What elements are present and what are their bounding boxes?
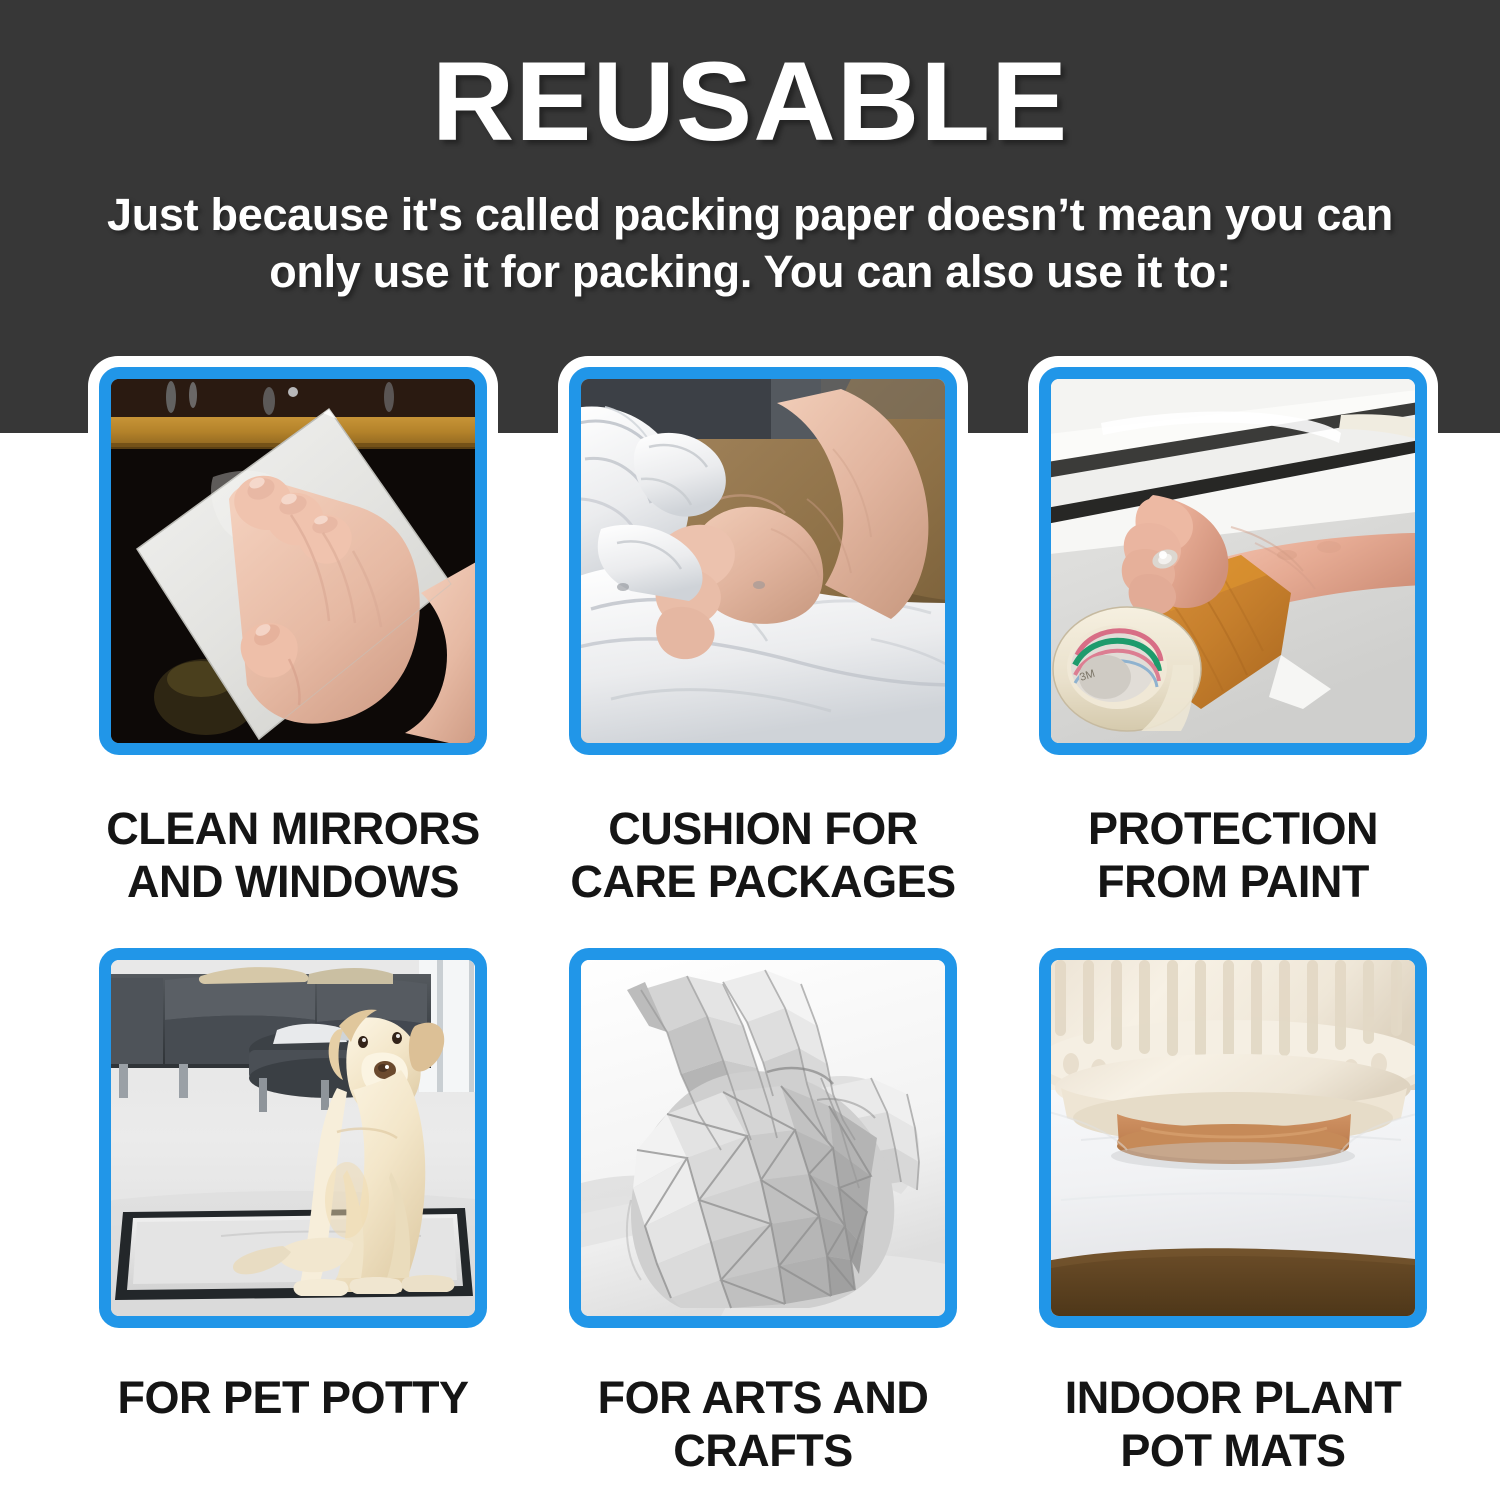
- card-for-arts-and-crafts[interactable]: [558, 937, 968, 1339]
- card-indoor-plant-pot-mats[interactable]: [1028, 937, 1438, 1339]
- use-case-cell-cushion-for-care-packages: CUSHION FOR CARE PACKAGES: [528, 356, 998, 908]
- card-protection-from-paint[interactable]: 3M: [1028, 356, 1438, 766]
- card-for-pet-potty[interactable]: [88, 937, 498, 1339]
- card-frame: 3M: [1039, 367, 1427, 755]
- card-caption: FOR PET POTTY: [58, 1371, 528, 1424]
- use-case-cell-for-pet-potty: FOR PET POTTY: [58, 937, 528, 1424]
- card-frame: [99, 948, 487, 1328]
- photo-indoor-plant-pot-mats: [1051, 960, 1415, 1316]
- card-frame: [569, 948, 957, 1328]
- card-caption: CLEAN MIRRORS AND WINDOWS: [58, 802, 528, 908]
- use-case-cell-protection-from-paint: 3M PROTECTION FROM PAINT: [998, 356, 1468, 908]
- photo-clean-mirrors-and-windows: [111, 379, 475, 743]
- photo-cushion-for-care-packages: [581, 379, 945, 743]
- use-case-cell-clean-mirrors-and-windows: CLEAN MIRRORS AND WINDOWS: [58, 356, 528, 908]
- card-caption: CUSHION FOR CARE PACKAGES: [528, 802, 998, 908]
- card-caption: INDOOR PLANT POT MATS: [998, 1371, 1468, 1477]
- photo-for-arts-and-crafts: [581, 960, 945, 1316]
- card-clean-mirrors-and-windows[interactable]: [88, 356, 498, 766]
- card-cushion-for-care-packages[interactable]: [558, 356, 968, 766]
- use-case-cell-indoor-plant-pot-mats: INDOOR PLANT POT MATS: [998, 937, 1468, 1477]
- card-frame: [99, 367, 487, 755]
- use-case-cell-for-arts-and-crafts: FOR ARTS AND CRAFTS: [528, 937, 998, 1477]
- card-caption: PROTECTION FROM PAINT: [998, 802, 1468, 908]
- card-caption: FOR ARTS AND CRAFTS: [528, 1371, 998, 1477]
- photo-protection-from-paint: 3M: [1051, 379, 1415, 743]
- card-frame: [569, 367, 957, 755]
- photo-for-pet-potty: [111, 960, 475, 1316]
- use-case-grid: CLEAN MIRRORS AND WINDOWS: [0, 0, 1500, 1500]
- card-frame: [1039, 948, 1427, 1328]
